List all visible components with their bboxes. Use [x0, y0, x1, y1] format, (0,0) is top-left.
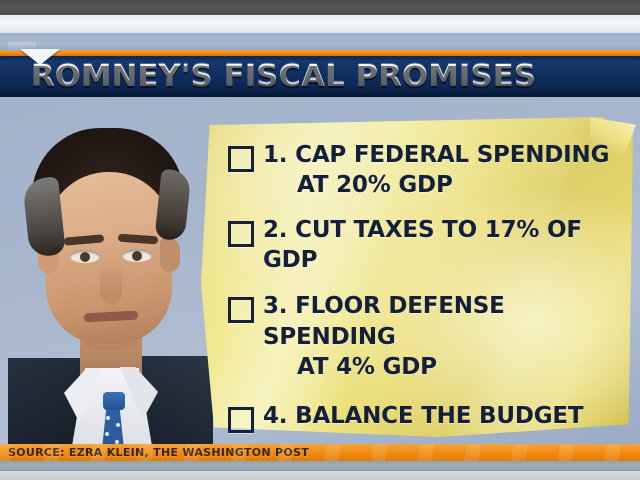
checkbox-icon[interactable] [228, 146, 254, 172]
list-item-line2: AT 4% GDP [263, 352, 628, 382]
list-item[interactable]: 2. CUT TAXES TO 17% OF GDP [228, 215, 628, 276]
top-blue-strip [0, 33, 640, 51]
pupil-left [80, 252, 90, 262]
page-title: ROMNEY'S FISCAL PROMISES [31, 56, 536, 97]
checkbox-icon[interactable] [228, 221, 254, 247]
checkbox-icon[interactable] [228, 297, 254, 323]
pupil-right [132, 251, 142, 261]
necktie-knot [103, 392, 125, 410]
list-item-line1: 4. BALANCE THE BUDGET [263, 403, 583, 429]
list-item-line1: 1. CAP FEDERAL SPENDING [263, 142, 609, 168]
top-white-strip [0, 15, 640, 33]
list-item[interactable]: 1. CAP FEDERAL SPENDING AT 20% GDP [228, 140, 628, 201]
broadcast-graphic-screen: ROMNEY'S FISCAL PROMISES 1. CAP FEDERAL … [0, 0, 640, 480]
hair-temple-right [154, 169, 191, 242]
checkbox-icon[interactable] [228, 407, 254, 433]
list-item-text: 2. CUT TAXES TO 17% OF GDP [263, 215, 628, 276]
ear-right [160, 238, 180, 272]
tie-dot [105, 432, 109, 436]
list-item-line1: 2. CUT TAXES TO 17% OF GDP [263, 217, 582, 273]
source-text: SOURCE: EZRA KLEIN, THE WASHINGTON POST [0, 446, 309, 459]
list-item-text: 3. FLOOR DEFENSE SPENDING AT 4% GDP [263, 291, 628, 382]
source-bar: SOURCE: EZRA KLEIN, THE WASHINGTON POST [0, 444, 640, 461]
list-item[interactable]: 3. FLOOR DEFENSE SPENDING AT 4% GDP [228, 291, 628, 382]
bottom-light-bar [0, 471, 640, 480]
promises-list: 1. CAP FEDERAL SPENDING AT 20% GDP 2. CU… [228, 140, 628, 437]
list-item-line2: AT 20% GDP [263, 170, 609, 200]
bottom-gray-bar [0, 461, 640, 471]
tie-dot [116, 423, 120, 427]
list-item-text: 4. BALANCE THE BUDGET [263, 401, 583, 431]
list-item-text: 1. CAP FEDERAL SPENDING AT 20% GDP [263, 140, 609, 201]
romney-portrait [8, 120, 213, 445]
tie-dot [106, 416, 110, 420]
nose [100, 260, 122, 304]
top-letterbox-bar [0, 0, 640, 15]
list-item[interactable]: 4. BALANCE THE BUDGET [228, 401, 628, 433]
list-item-line1: 3. FLOOR DEFENSE SPENDING [263, 293, 505, 349]
